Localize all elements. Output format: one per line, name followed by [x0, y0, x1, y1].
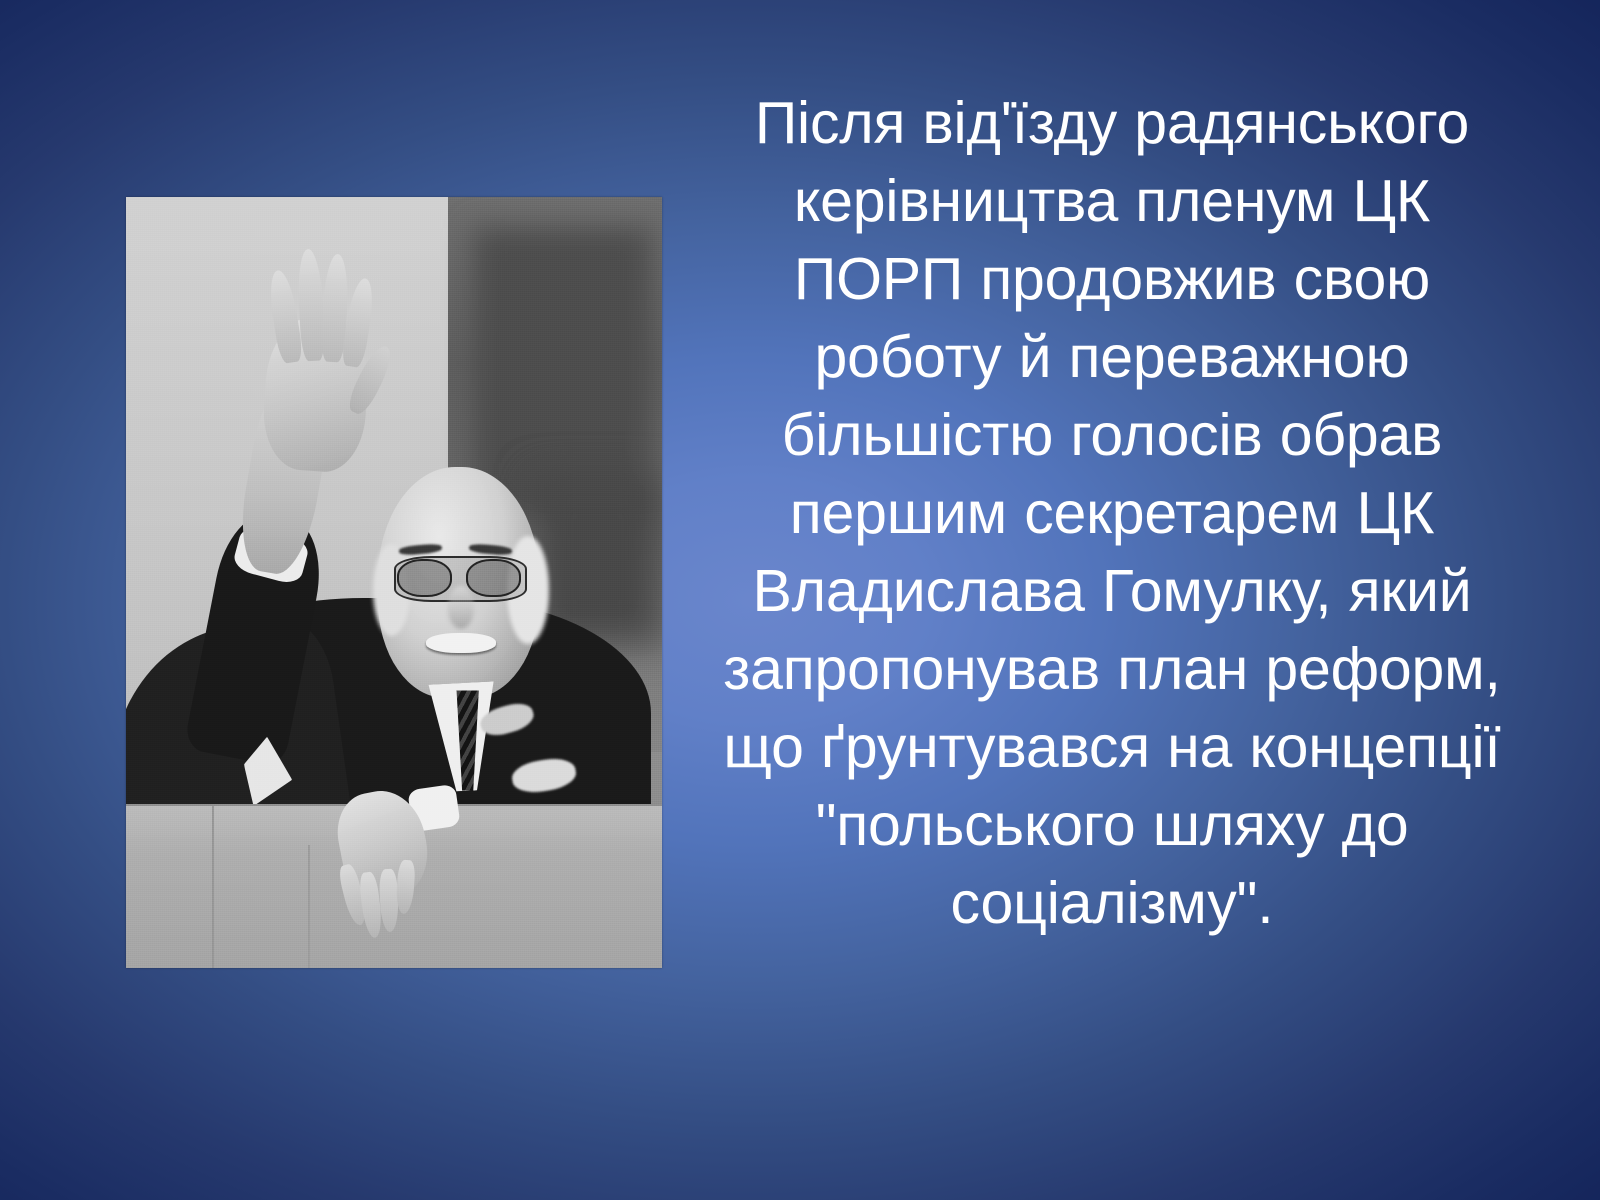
slide-body-text: Після від'їзду радянського керівництва п… — [706, 84, 1518, 942]
photo-smile — [426, 633, 496, 653]
portrait-photo — [126, 197, 662, 968]
photo-podium-seam — [212, 806, 214, 968]
slide-canvas: Після від'їзду радянського керівництва п… — [0, 0, 1600, 1200]
photo-illustration — [126, 197, 662, 968]
photo-podium-seam — [308, 845, 310, 968]
photo-glasses-lens-left — [397, 559, 452, 597]
photo-glasses-lens-right — [466, 559, 521, 597]
photo-nose — [448, 586, 475, 628]
